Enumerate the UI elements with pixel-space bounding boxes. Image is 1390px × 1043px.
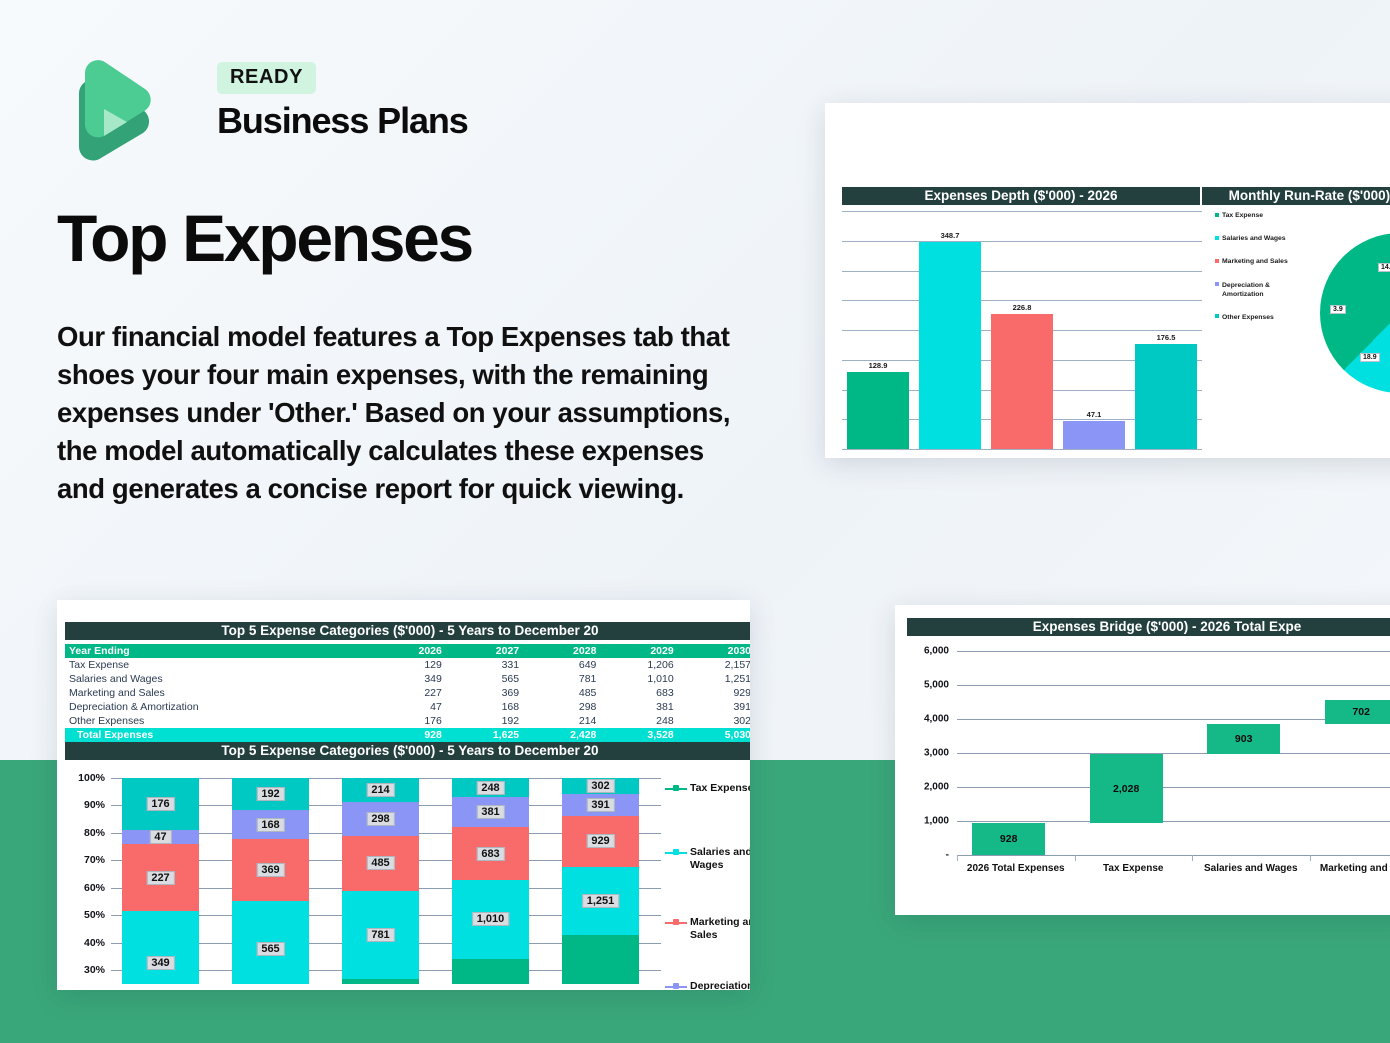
pie-slice-value: 3.9 <box>1330 305 1346 314</box>
legend-item: Marketing and Sales <box>665 916 750 942</box>
x-axis-tick <box>1310 855 1311 861</box>
table-cell: Salaries and Wages <box>65 672 375 686</box>
legend-item: Other Expenses <box>1215 313 1305 322</box>
table-cell: Other Expenses <box>65 714 375 728</box>
depth-bar-value: 176.5 <box>1135 333 1197 342</box>
depth-bar-value: 348.7 <box>919 231 981 240</box>
table-cell: 369 <box>446 686 523 700</box>
table-header-row: Year Ending20262027202820292030 <box>65 644 750 658</box>
table-column-header: Year Ending <box>65 644 375 658</box>
legend-marker <box>665 918 687 927</box>
table-cell: 331 <box>446 658 523 672</box>
table-column-header: 2030 <box>678 644 750 658</box>
gridline <box>842 449 1202 450</box>
y-axis-tick-label: 3,000 <box>907 748 949 759</box>
table-column-header: 2027 <box>446 644 523 658</box>
x-axis-tick-label: 2026 Total Expenses <box>957 863 1075 874</box>
table-row: Marketing and Sales227369485683929 <box>65 686 750 700</box>
stacked-segment-value: 248 <box>476 781 504 795</box>
x-axis-tick-label: Salaries and Wages <box>1192 863 1310 874</box>
stacked-segment-value: 349 <box>146 956 174 970</box>
stacked-segment-value: 781 <box>366 928 394 942</box>
y-axis-tick-label: 80% <box>65 827 105 839</box>
legend-label: Marketing and Sales <box>690 916 750 942</box>
legend-label: Depreciation & Amortization <box>690 980 750 990</box>
x-axis-tick <box>1192 855 1193 861</box>
gridline <box>957 685 1390 686</box>
table-row: Salaries and Wages3495657811,0101,251 <box>65 672 750 686</box>
monthly-run-rate-pie-chart: 10.714.73.918.9 <box>1320 233 1390 393</box>
x-axis-tick-label: Tax Expense <box>1075 863 1193 874</box>
expenses-depth-chart: 128.9348.7226.847.1176.5 <box>842 211 1202 458</box>
table-cell: 381 <box>600 700 677 714</box>
waterfall-bar-value: 928 <box>1000 833 1018 845</box>
stacked-segment-value: 192 <box>256 787 284 801</box>
legend-label: Tax Expense <box>1222 211 1263 220</box>
play-triangle-logo-icon <box>57 57 153 161</box>
expense-categories-table: Year Ending20262027202820292030 Tax Expe… <box>65 644 750 742</box>
table-cell: 227 <box>375 686 446 700</box>
expenses-bridge-title: Expenses Bridge ($'000) - 2026 Total Exp… <box>907 618 1390 636</box>
table-row: Depreciation & Amortization4716829838139… <box>65 700 750 714</box>
expenses-bridge-panel: Expenses Bridge ($'000) - 2026 Total Exp… <box>895 605 1390 915</box>
y-axis-tick-label: 2,000 <box>907 782 949 793</box>
table-row: Other Expenses176192214248302 <box>65 714 750 728</box>
y-axis-tick-label: 100% <box>65 772 105 784</box>
stacked-segment <box>122 911 199 984</box>
pie-slice-value: 14.7 <box>1378 263 1390 272</box>
gridline <box>842 271 1202 272</box>
legend-dot <box>673 849 679 855</box>
expenses-depth-panel: Expenses Depth ($'000) - 2026 Monthly Ru… <box>825 103 1390 458</box>
table-cell: 302 <box>678 714 750 728</box>
depth-bar <box>1135 344 1197 449</box>
legend-marker <box>665 784 687 793</box>
legend-item: Tax Expense <box>665 782 750 795</box>
legend-swatch <box>1215 236 1219 240</box>
gridline <box>842 211 1202 212</box>
monthly-run-rate-title: Monthly Run-Rate ($'000) - <box>1200 187 1390 205</box>
depth-bar <box>919 242 981 449</box>
y-axis-tick-label: 4,000 <box>907 714 949 725</box>
gridline <box>957 821 1390 822</box>
table-cell: 781 <box>523 672 600 686</box>
depth-bar-value: 47.1 <box>1063 410 1125 419</box>
table-cell: 649 <box>523 658 600 672</box>
table-cell: 1,206 <box>600 658 677 672</box>
stacked-segment-value: 369 <box>256 863 284 877</box>
x-axis-tick-label: Marketing and Sales <box>1310 863 1390 874</box>
legend-label: Other Expenses <box>1222 313 1274 322</box>
table-cell: 298 <box>523 700 600 714</box>
gridline <box>957 787 1390 788</box>
stacked-segment <box>562 935 639 984</box>
depth-bar <box>1063 421 1125 449</box>
ready-badge: READY <box>217 62 316 94</box>
table-total-cell: 3,528 <box>600 728 677 742</box>
table-body: Tax Expense1293316491,2062,157Salaries a… <box>65 658 750 742</box>
y-axis-tick-label: 40% <box>65 937 105 949</box>
y-axis-tick-label: 50% <box>65 909 105 921</box>
stacked-segment-value: 47 <box>149 830 171 844</box>
x-axis-tick <box>1075 855 1076 861</box>
depth-title-bar: Expenses Depth ($'000) - 2026 Monthly Ru… <box>842 187 1390 205</box>
y-axis-tick-label: 5,000 <box>907 680 949 691</box>
table-total-cell: Total Expenses <box>65 728 375 742</box>
expense-categories-stacked-chart: Tax ExpenseSalaries and WagesMarketing a… <box>65 768 750 984</box>
expense-categories-panel: Top 5 Expense Categories ($'000) - 5 Yea… <box>57 600 750 990</box>
legend-dot <box>673 983 679 989</box>
table-cell: 929 <box>678 686 750 700</box>
y-axis-tick-label: 70% <box>65 854 105 866</box>
expenses-depth-title: Expenses Depth ($'000) - 2026 <box>842 187 1200 205</box>
table-total-cell: 928 <box>375 728 446 742</box>
gridline <box>842 300 1202 301</box>
table-cell: 565 <box>446 672 523 686</box>
stacked-segment-value: 391 <box>586 798 614 812</box>
table-total-cell: 2,428 <box>523 728 600 742</box>
expense-table-title: Top 5 Expense Categories ($'000) - 5 Yea… <box>65 622 750 640</box>
legend-swatch <box>1215 282 1219 286</box>
table-cell: Depreciation & Amortization <box>65 700 375 714</box>
table-cell: Marketing and Sales <box>65 686 375 700</box>
legend-dot <box>673 785 679 791</box>
stacked-segment <box>342 979 419 984</box>
stacked-segment-value: 929 <box>586 834 614 848</box>
legend-label: Tax Expense <box>690 782 750 795</box>
page-title: Top Expenses <box>57 205 472 271</box>
table-cell: 248 <box>600 714 677 728</box>
expense-stacked-chart-title: Top 5 Expense Categories ($'000) - 5 Yea… <box>65 742 750 760</box>
table-cell: 485 <box>523 686 600 700</box>
table-total-row: Total Expenses9281,6252,4283,5285,030 <box>65 728 750 742</box>
table-column-header: 2028 <box>523 644 600 658</box>
waterfall-bar-value: 2,028 <box>1113 783 1139 795</box>
stacked-segment-value: 298 <box>366 812 394 826</box>
y-axis-tick-label: 1,000 <box>907 816 949 827</box>
legend-swatch <box>1215 259 1219 263</box>
legend-label: Salaries and Wages <box>690 846 750 872</box>
table-cell: 47 <box>375 700 446 714</box>
stacked-segment-value: 565 <box>256 942 284 956</box>
waterfall-bar-value: 702 <box>1352 706 1370 718</box>
stacked-segment-value: 1,010 <box>472 912 510 926</box>
waterfall-bar-value: 903 <box>1235 733 1253 745</box>
legend-marker <box>665 848 687 857</box>
stacked-segment-value: 168 <box>256 818 284 832</box>
stacked-segment-value: 1,251 <box>582 894 620 908</box>
table-cell: Tax Expense <box>65 658 375 672</box>
brand-name: Business Plans <box>217 100 468 142</box>
stacked-segment-value: 485 <box>366 856 394 870</box>
table-cell: 2,157 <box>678 658 750 672</box>
pie-slice-value: 18.9 <box>1360 353 1380 362</box>
page-description: Our financial model features a Top Expen… <box>57 318 757 508</box>
legend-label: Depreciation & Amortization <box>1222 281 1305 299</box>
stacked-bar <box>342 778 419 984</box>
stacked-segment-value: 227 <box>146 871 174 885</box>
legend-item: Salaries and Wages <box>665 846 750 872</box>
depth-bar-value: 128.9 <box>847 361 909 370</box>
table-cell: 683 <box>600 686 677 700</box>
table-column-header: 2026 <box>375 644 446 658</box>
legend-swatch <box>1215 213 1219 217</box>
table-cell: 1,251 <box>678 672 750 686</box>
expenses-bridge-waterfall-chart: 6,0005,0004,0003,0002,0001,000-9282026 T… <box>907 643 1390 893</box>
table-row: Tax Expense1293316491,2062,157 <box>65 658 750 672</box>
table-cell: 176 <box>375 714 446 728</box>
table-total-cell: 1,625 <box>446 728 523 742</box>
table-cell: 129 <box>375 658 446 672</box>
gridline <box>842 241 1202 242</box>
legend-item: Depreciation & Amortization <box>1215 281 1305 299</box>
table-cell: 168 <box>446 700 523 714</box>
stacked-segment-value: 176 <box>146 797 174 811</box>
table-cell: 349 <box>375 672 446 686</box>
legend-item: Depreciation & Amortization <box>665 980 750 990</box>
y-axis-tick-label: 60% <box>65 882 105 894</box>
legend-label: Salaries and Wages <box>1222 234 1286 243</box>
legend-item: Marketing and Sales <box>1215 257 1305 266</box>
brand-logo-block: READY Business Plans <box>57 57 477 167</box>
table-cell: 391 <box>678 700 750 714</box>
legend-item: Tax Expense <box>1215 211 1305 220</box>
x-axis-tick <box>957 855 958 861</box>
y-axis-tick-label: - <box>907 850 949 861</box>
gridline <box>957 753 1390 754</box>
gridline <box>957 855 1390 856</box>
depth-bar-value: 226.8 <box>991 303 1053 312</box>
stacked-segment-value: 381 <box>476 805 504 819</box>
expenses-depth-legend: Tax ExpenseSalaries and WagesMarketing a… <box>1215 211 1305 336</box>
stacked-segment-value: 302 <box>586 779 614 793</box>
table-cell: 192 <box>446 714 523 728</box>
y-axis-tick-label: 30% <box>65 964 105 976</box>
legend-label: Marketing and Sales <box>1222 257 1288 266</box>
y-axis-tick-label: 90% <box>65 799 105 811</box>
stacked-segment-value: 214 <box>366 783 394 797</box>
legend-dot <box>673 919 679 925</box>
depth-bar <box>991 314 1053 449</box>
table-total-cell: 5,030 <box>678 728 750 742</box>
stacked-segment <box>452 959 529 984</box>
table-cell: 1,010 <box>600 672 677 686</box>
stacked-segment-value: 683 <box>476 847 504 861</box>
gridline <box>957 651 1390 652</box>
brand-text: READY Business Plans <box>217 62 468 142</box>
table-cell: 214 <box>523 714 600 728</box>
y-axis-tick-label: 6,000 <box>907 646 949 657</box>
legend-item: Salaries and Wages <box>1215 234 1305 243</box>
depth-bar <box>847 372 909 449</box>
table-column-header: 2029 <box>600 644 677 658</box>
legend-swatch <box>1215 314 1219 318</box>
legend-marker <box>665 982 687 990</box>
